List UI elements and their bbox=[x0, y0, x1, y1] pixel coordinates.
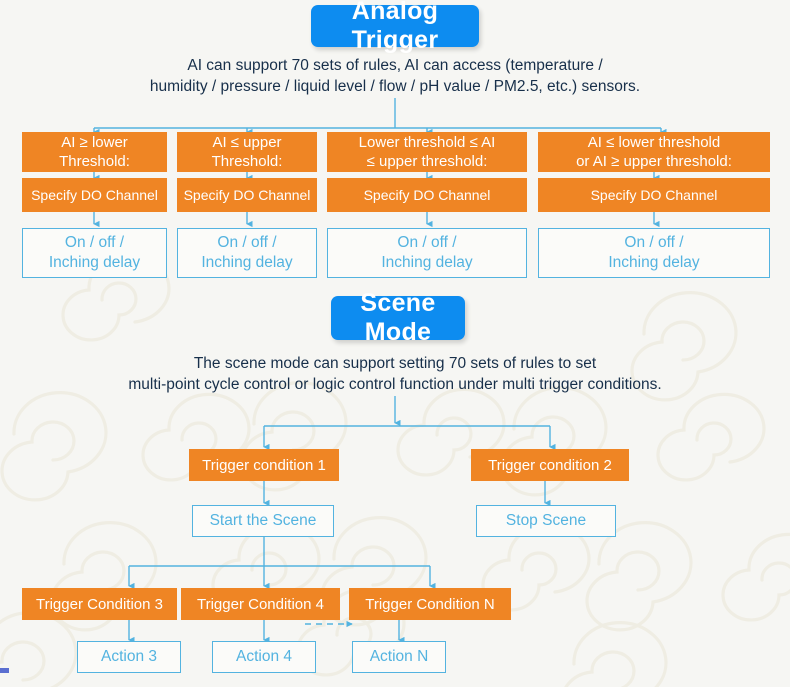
analog-condition-1[interactable]: AI ≥ lower Threshold: bbox=[22, 132, 167, 172]
analog-action-2[interactable]: On / off / Inching delay bbox=[177, 228, 317, 278]
scene-action-n-label: Action N bbox=[370, 647, 429, 667]
analog-condition-4[interactable]: AI ≤ lower threshold or AI ≥ upper thres… bbox=[538, 132, 770, 172]
scene-trigger-condition-2[interactable]: Trigger condition 2 bbox=[471, 449, 629, 481]
analog-condition-3[interactable]: Lower threshold ≤ AI ≤ upper threshold: bbox=[327, 132, 527, 172]
scene-start-label: Start the Scene bbox=[210, 511, 317, 531]
analog-condition-4-label: AI ≤ lower threshold or AI ≥ upper thres… bbox=[576, 133, 732, 171]
analog-do-channel-4-label: Specify DO Channel bbox=[591, 186, 718, 205]
analog-action-4-label: On / off / Inching delay bbox=[608, 233, 699, 273]
scene-mode-caption-text: The scene mode can support setting 70 se… bbox=[128, 353, 661, 395]
scene-stop-button[interactable]: Stop Scene bbox=[476, 505, 616, 537]
scene-branch-trigger-n-label: Trigger Condition N bbox=[365, 595, 495, 614]
scene-stop-label: Stop Scene bbox=[506, 511, 586, 531]
analog-trigger-caption-text: AI can support 70 sets of rules, AI can … bbox=[150, 55, 640, 97]
analog-condition-3-label: Lower threshold ≤ AI ≤ upper threshold: bbox=[359, 133, 496, 171]
analog-action-1[interactable]: On / off / Inching delay bbox=[22, 228, 167, 278]
analog-action-2-label: On / off / Inching delay bbox=[201, 233, 292, 273]
analog-do-channel-3[interactable]: Specify DO Channel bbox=[327, 178, 527, 212]
scene-branch-trigger-4[interactable]: Trigger Condition 4 bbox=[181, 588, 340, 620]
analog-do-channel-2[interactable]: Specify DO Channel bbox=[177, 178, 317, 212]
corner-marker bbox=[0, 668, 9, 673]
scene-mode-title-text: Scene Mode bbox=[331, 289, 465, 347]
scene-branch-trigger-3[interactable]: Trigger Condition 3 bbox=[22, 588, 177, 620]
analog-do-channel-4[interactable]: Specify DO Channel bbox=[538, 178, 770, 212]
analog-action-3-label: On / off / Inching delay bbox=[381, 233, 472, 273]
analog-action-3[interactable]: On / off / Inching delay bbox=[327, 228, 527, 278]
analog-do-channel-3-label: Specify DO Channel bbox=[364, 186, 491, 205]
scene-branch-trigger-n[interactable]: Trigger Condition N bbox=[349, 588, 511, 620]
scene-mode-caption: The scene mode can support setting 70 se… bbox=[45, 351, 745, 397]
analog-condition-1-label: AI ≥ lower Threshold: bbox=[59, 133, 130, 171]
scene-mode-title: Scene Mode bbox=[331, 296, 465, 340]
analog-action-4[interactable]: On / off / Inching delay bbox=[538, 228, 770, 278]
scene-action-n[interactable]: Action N bbox=[352, 641, 446, 673]
analog-condition-2-label: AI ≤ upper Threshold: bbox=[212, 133, 283, 171]
analog-condition-2[interactable]: AI ≤ upper Threshold: bbox=[177, 132, 317, 172]
scene-trigger-condition-1-label: Trigger condition 1 bbox=[202, 456, 326, 475]
scene-action-4-label: Action 4 bbox=[236, 647, 292, 667]
analog-do-channel-2-label: Specify DO Channel bbox=[184, 186, 311, 205]
analog-trigger-title-text: Analog Trigger bbox=[311, 0, 479, 55]
scene-trigger-condition-1[interactable]: Trigger condition 1 bbox=[189, 449, 339, 481]
scene-branch-trigger-3-label: Trigger Condition 3 bbox=[36, 595, 163, 614]
scene-branch-trigger-4-label: Trigger Condition 4 bbox=[197, 595, 324, 614]
analog-trigger-title: Analog Trigger bbox=[311, 5, 479, 47]
analog-do-channel-1-label: Specify DO Channel bbox=[31, 186, 158, 205]
analog-action-1-label: On / off / Inching delay bbox=[49, 233, 140, 273]
scene-start-button[interactable]: Start the Scene bbox=[192, 505, 334, 537]
scene-trigger-condition-2-label: Trigger condition 2 bbox=[488, 456, 612, 475]
scene-action-3[interactable]: Action 3 bbox=[77, 641, 181, 673]
analog-trigger-caption: AI can support 70 sets of rules, AI can … bbox=[70, 53, 720, 99]
scene-action-3-label: Action 3 bbox=[101, 647, 157, 667]
analog-do-channel-1[interactable]: Specify DO Channel bbox=[22, 178, 167, 212]
scene-action-4[interactable]: Action 4 bbox=[212, 641, 316, 673]
